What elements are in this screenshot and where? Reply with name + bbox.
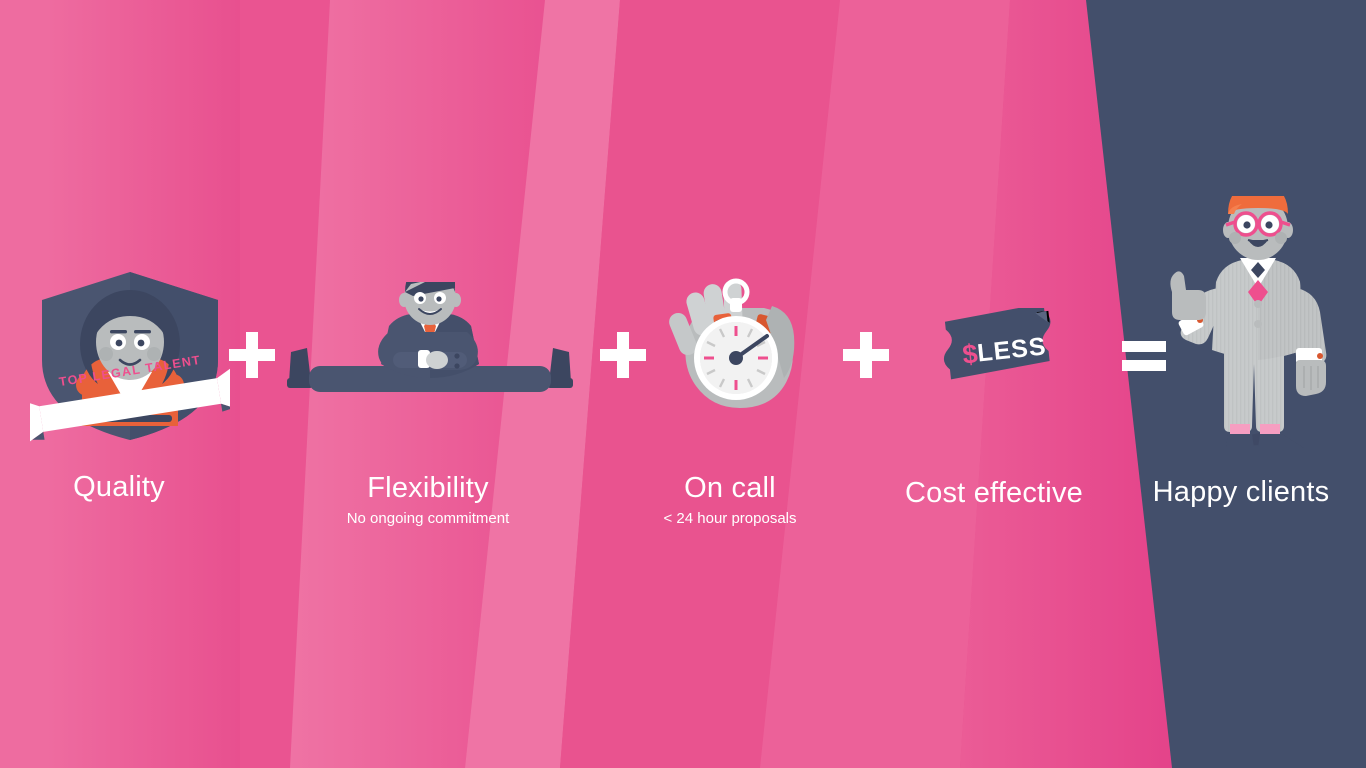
ticket-less-icon: $ LESS bbox=[940, 308, 1062, 388]
plus-sign-icon-3 bbox=[843, 332, 889, 378]
splits-man-icon bbox=[285, 282, 575, 412]
label-happy-clients: Happy clients bbox=[1061, 477, 1366, 507]
equals-sign-icon bbox=[1122, 340, 1166, 372]
plus-sign-icon-1 bbox=[229, 332, 275, 378]
plus-sign-icon-2 bbox=[600, 332, 646, 378]
thumbs-up-man-icon bbox=[1168, 196, 1348, 456]
label-block-happy-clients: Happy clients bbox=[1061, 477, 1366, 507]
shield-badge-icon: TOP LEGAL TALENT bbox=[30, 268, 230, 443]
sublabel-on-call: < 24 hour proposals bbox=[550, 510, 910, 527]
infographic-canvas: TOP LEGAL TALENT Quality bbox=[0, 0, 1366, 768]
hand-stopwatch-icon: GO bbox=[660, 278, 810, 410]
